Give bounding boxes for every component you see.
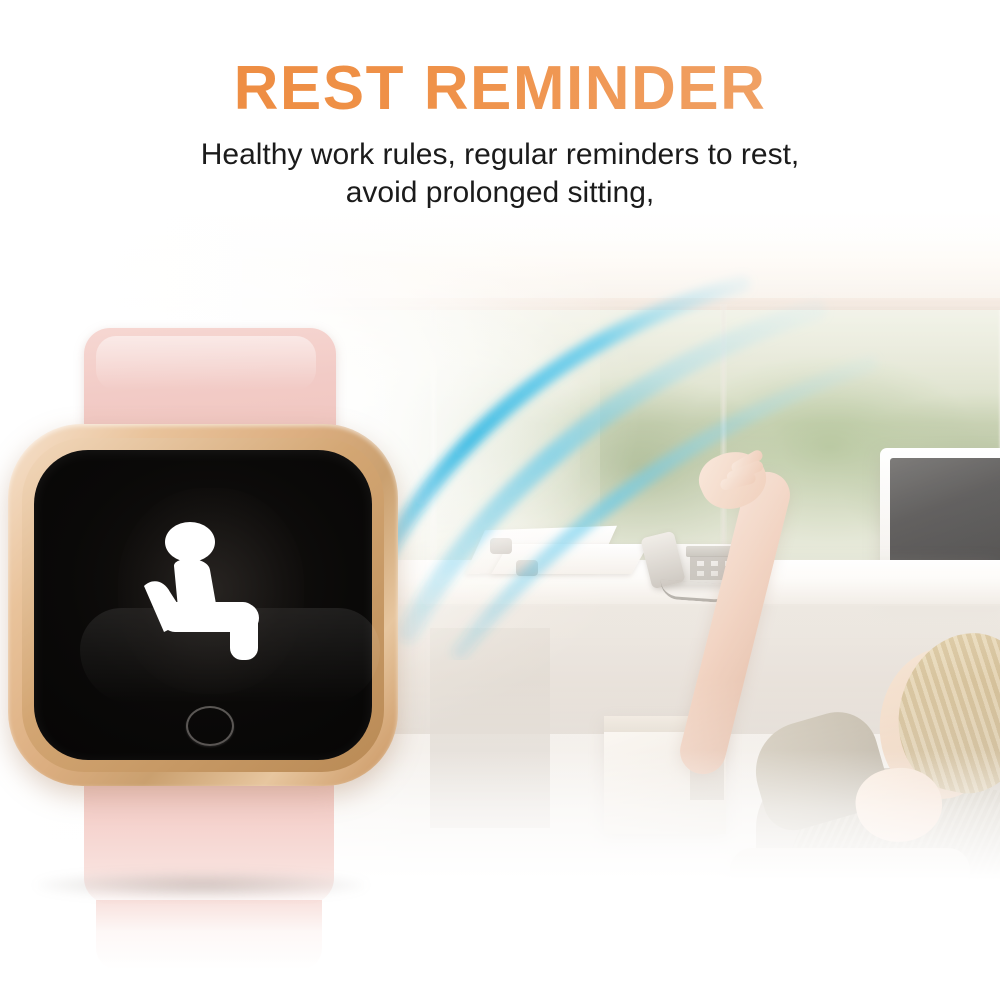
watch-drop-shadow: [36, 872, 366, 898]
header-block: REST REMINDER Healthy work rules, regula…: [0, 0, 1000, 211]
subtitle: Healthy work rules, regular reminders to…: [0, 120, 1000, 211]
office-chair-armrest: [730, 848, 970, 880]
watch-band-reflection: [96, 900, 322, 970]
home-button-circle[interactable]: [186, 706, 234, 746]
subtitle-line-1: Healthy work rules, regular reminders to…: [201, 138, 800, 171]
smartwatch: [0, 300, 430, 920]
product-banner: REST REMINDER Healthy work rules, regula…: [0, 0, 1000, 1000]
subtitle-line-2: avoid prolonged sitting,: [0, 174, 1000, 212]
page-title: REST REMINDER: [0, 0, 1000, 120]
window-mullion-right: [720, 304, 727, 554]
watch-band-top-highlight: [96, 336, 316, 390]
sitting-person-icon: [130, 512, 280, 662]
